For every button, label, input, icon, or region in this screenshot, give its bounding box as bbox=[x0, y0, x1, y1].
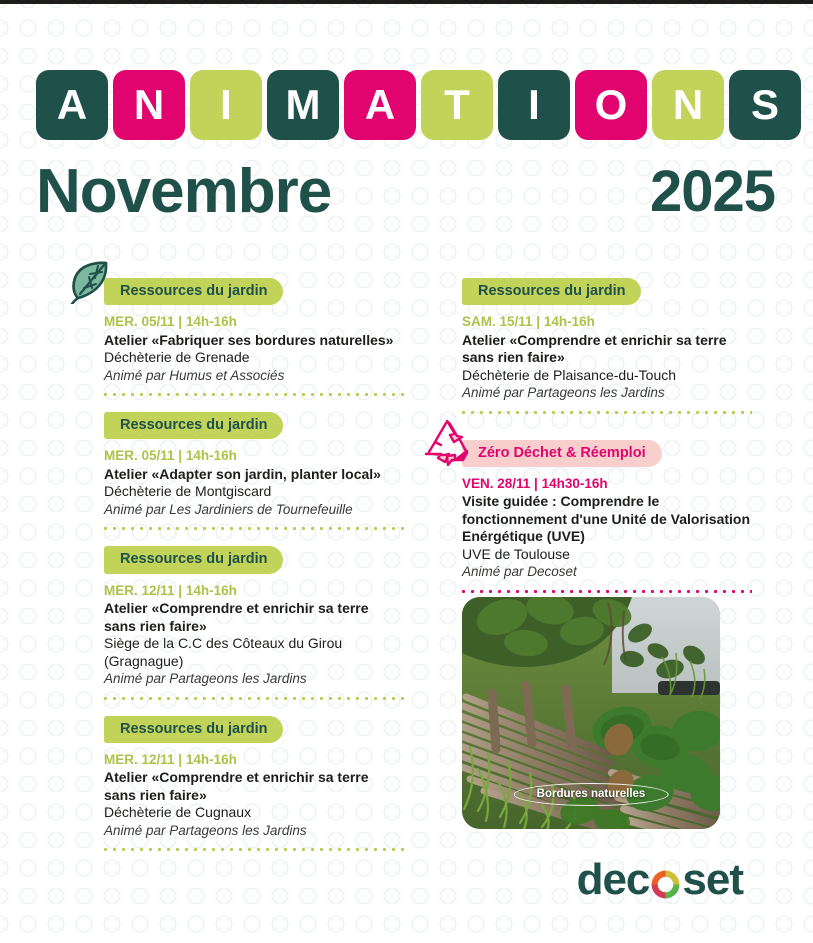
event-category-tag: Ressources du jardin bbox=[104, 546, 283, 573]
title-tile-letter: I bbox=[528, 84, 540, 126]
title-tile-letter: A bbox=[365, 84, 395, 126]
title-tile-letter: S bbox=[751, 84, 779, 126]
event-date: MER. 05/11 | 14h-16h bbox=[104, 313, 404, 331]
event-title: Visite guidée : Comprendre le fonctionne… bbox=[462, 493, 752, 546]
event-place: Déchèterie de Montgiscard bbox=[104, 483, 404, 501]
event-animator: Animé par Les Jardiniers de Tournefeuill… bbox=[104, 501, 404, 519]
event-place: Déchèterie de Plaisance-du-Touch bbox=[462, 367, 752, 385]
event-animator: Animé par Partageons les Jardins bbox=[462, 384, 752, 402]
event-title: Atelier «Comprendre et enrichir sa terre… bbox=[462, 332, 752, 367]
title-tile: S bbox=[729, 70, 801, 140]
event-place: Déchèterie de Grenade bbox=[104, 349, 404, 367]
event-divider bbox=[104, 697, 404, 700]
photo-caption: Bordures naturelles bbox=[514, 783, 669, 806]
decoset-swirl-icon bbox=[650, 869, 681, 900]
year-label: 2025 bbox=[650, 158, 775, 225]
title-tile: T bbox=[421, 70, 493, 140]
event-animator: Animé par Humus et Associés bbox=[104, 367, 404, 385]
event-card: Ressources du jardin MER. 12/11 | 14h-16… bbox=[104, 716, 404, 852]
event-place: Déchèterie de Cugnaux bbox=[104, 804, 404, 822]
top-bar bbox=[0, 0, 813, 4]
title-tile: A bbox=[344, 70, 416, 140]
title-tile: N bbox=[652, 70, 724, 140]
recycle-icon bbox=[422, 418, 474, 466]
event-date: MER. 05/11 | 14h-16h bbox=[104, 447, 404, 465]
title-tile-letter: T bbox=[444, 84, 470, 126]
title-tile-letter: A bbox=[57, 84, 87, 126]
event-category-tag: Ressources du jardin bbox=[104, 412, 283, 439]
month-label: Novembre bbox=[36, 156, 331, 227]
event-divider bbox=[462, 411, 752, 414]
event-divider bbox=[462, 590, 752, 593]
title-tile: M bbox=[267, 70, 339, 140]
title-tile: I bbox=[190, 70, 262, 140]
title-tile: N bbox=[113, 70, 185, 140]
event-title: Atelier «Fabriquer ses bordures naturell… bbox=[104, 332, 404, 350]
event-category-tag: Ressources du jardin bbox=[104, 278, 283, 305]
event-card: Ressources du jardin SAM. 15/11 | 14h-16… bbox=[462, 278, 752, 414]
event-date: MER. 12/11 | 14h-16h bbox=[104, 751, 404, 769]
event-place: Siège de la C.C des Côteaux du Girou (Gr… bbox=[104, 635, 404, 670]
logo-text-after: set bbox=[682, 855, 743, 905]
event-animator: Animé par Decoset bbox=[462, 563, 752, 581]
event-title: Atelier «Adapter son jardin, planter loc… bbox=[104, 466, 404, 484]
event-card: Ressources du jardin MER. 05/11 | 14h-16… bbox=[104, 412, 404, 530]
event-category-tag: Ressources du jardin bbox=[462, 278, 641, 305]
event-divider bbox=[104, 848, 404, 851]
title-animations: A N I M A T I O N S bbox=[36, 70, 801, 140]
decoset-logo: dec set bbox=[577, 855, 743, 905]
event-title: Atelier «Comprendre et enrichir sa terre… bbox=[104, 769, 404, 804]
events-column-left: Ressources du jardin MER. 05/11 | 14h-16… bbox=[104, 278, 404, 867]
event-date: SAM. 15/11 | 14h-16h bbox=[462, 313, 752, 331]
event-date: VEN. 28/11 | 14h30-16h bbox=[462, 475, 752, 493]
title-tile: A bbox=[36, 70, 108, 140]
event-title: Atelier «Comprendre et enrichir sa terre… bbox=[104, 600, 404, 635]
event-category-tag: Zéro Déchet & Réemploi bbox=[462, 440, 662, 467]
logo-text-before: dec bbox=[577, 855, 650, 905]
title-tile-letter: N bbox=[134, 84, 164, 126]
title-tile: O bbox=[575, 70, 647, 140]
title-tile-letter: M bbox=[286, 84, 321, 126]
event-animator: Animé par Partageons les Jardins bbox=[104, 670, 404, 688]
event-animator: Animé par Partageons les Jardins bbox=[104, 822, 404, 840]
event-card: Ressources du jardin MER. 05/11 | 14h-16… bbox=[104, 278, 404, 396]
event-divider bbox=[104, 393, 404, 396]
photo-natural-borders: Bordures naturelles bbox=[462, 597, 720, 829]
title-tile-letter: N bbox=[673, 84, 703, 126]
events-column-right: Ressources du jardin SAM. 15/11 | 14h-16… bbox=[462, 278, 752, 609]
title-tile: I bbox=[498, 70, 570, 140]
title-tile-letter: O bbox=[595, 84, 628, 126]
event-card: Ressources du jardin MER. 12/11 | 14h-16… bbox=[104, 546, 404, 699]
title-tile-letter: I bbox=[220, 84, 232, 126]
event-category-tag: Ressources du jardin bbox=[104, 716, 283, 743]
event-card: Zéro Déchet & Réemploi VEN. 28/11 | 14h3… bbox=[462, 440, 752, 593]
event-place: UVE de Toulouse bbox=[462, 546, 752, 564]
event-date: MER. 12/11 | 14h-16h bbox=[104, 582, 404, 600]
event-divider bbox=[104, 527, 404, 530]
leaf-icon bbox=[68, 258, 114, 304]
